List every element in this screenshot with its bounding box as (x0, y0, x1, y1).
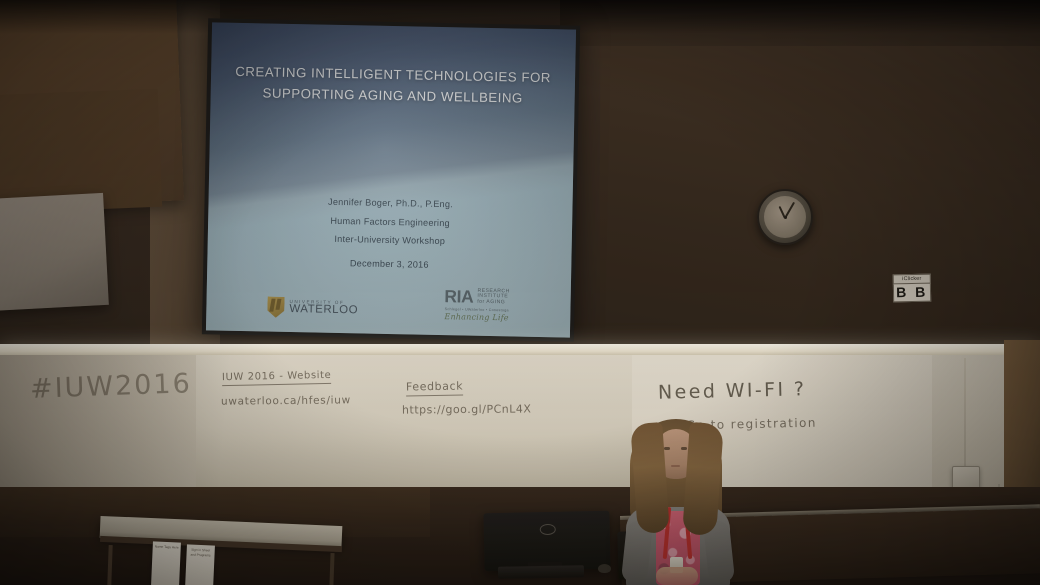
podium-keyboard[interactable] (498, 565, 584, 578)
iclicker-sign: iClicker B B (893, 274, 932, 309)
wall-clock-icon (757, 189, 813, 245)
ria-wordmark: RESEARCH INSTITUTE for AGING (477, 288, 510, 306)
presenter-eye-left (664, 447, 670, 450)
whiteboard-wifi-question: Need WI-FI ? (658, 378, 807, 404)
podium-mouse[interactable] (598, 564, 611, 573)
waterloo-wordmark: UNIVERSITY OF WATERLOO (289, 299, 358, 316)
whiteboard-hashtag: #IUW2016 (30, 368, 193, 405)
whiteboard-panel-3 (390, 355, 633, 487)
iclicker-sign-title: iClicker (893, 274, 931, 285)
whiteboard-website-heading: IUW 2016 - Website (222, 370, 332, 386)
clock-face (764, 196, 806, 238)
ria-logo: RIA RESEARCH INSTITUTE for AGING Schlege… (444, 288, 510, 323)
presentation-slide: CREATING INTELLIGENT TECHNOLOGIES FOR SU… (206, 22, 576, 337)
whiteboard-row: #IUW2016 IUW 2016 - Website uwaterloo.ca… (0, 355, 1040, 487)
ria-tagline: Enhancing Life (444, 312, 508, 322)
whiteboard-feedback-url: https://goo.gl/PCnL4X (402, 402, 531, 416)
university-of-waterloo-logo: UNIVERSITY OF WATERLOO (267, 297, 358, 320)
ria-logo-top: RIA RESEARCH INSTITUTE for AGING (444, 288, 510, 307)
ria-word-for-aging: for AGING (477, 300, 509, 306)
presenter-eye-right (681, 447, 687, 450)
iclicker-frequency-code: B B (893, 284, 931, 302)
whiteboard-website-url: uwaterloo.ca/hfes/iuw (221, 394, 351, 407)
presenter-hands (656, 567, 698, 585)
whiteboard-panel-1: #IUW2016 (0, 355, 197, 487)
ria-monogram: RIA (444, 288, 473, 306)
clock-center-pin (784, 216, 787, 219)
slide-title: CREATING INTELLIGENT TECHNOLOGIES FOR SU… (211, 60, 576, 110)
table-sign-left: Name Tags Here (151, 541, 181, 585)
waterloo-logo-large-text: WATERLOO (289, 304, 358, 317)
dell-logo-icon (540, 524, 556, 535)
slide-date: December 3, 2016 (207, 251, 571, 277)
presenter (612, 415, 742, 585)
slide-body: Jennifer Boger, Ph.D., P.Eng. Human Fact… (207, 190, 573, 277)
whiteboard-feedback-heading: Feedback (406, 380, 463, 397)
slide-logo-row: UNIVERSITY OF WATERLOO RIA RESEARCH INST… (206, 283, 571, 324)
screen-frame: CREATING INTELLIGENT TECHNOLOGIES FOR SU… (202, 18, 580, 341)
table-sign-right: Sign in Sheet and Programs (185, 544, 215, 585)
grey-wall-panel-left (0, 193, 109, 311)
right-wood-wall (600, 0, 1040, 365)
waterloo-shield-icon (267, 297, 284, 318)
lecture-hall-photo: CREATING INTELLIGENT TECHNOLOGIES FOR SU… (0, 0, 1040, 585)
projection-screen: CREATING INTELLIGENT TECHNOLOGIES FOR SU… (202, 18, 580, 341)
